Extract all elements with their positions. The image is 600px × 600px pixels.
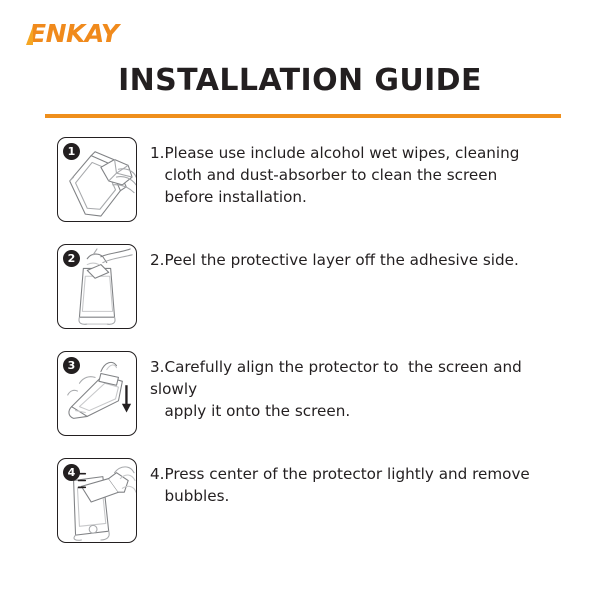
installation-guide-page: ENKAY INSTALLATION GUIDE 1 xyxy=(0,0,600,600)
step-2-illustration: 2 xyxy=(57,244,137,329)
step-item-3: 3 xyxy=(0,351,600,436)
step-item-4: 4 xyxy=(0,458,600,543)
step-item-2: 2 xyxy=(0,244,600,329)
step-4-text: 4.Press center of the protector lightly … xyxy=(137,458,550,507)
step-3-text: 3.Carefully align the protector to the s… xyxy=(137,351,550,422)
enkay-logo: ENKAY xyxy=(26,21,118,46)
down-arrow-icon xyxy=(122,385,131,412)
step-item-1: 1 xyxy=(0,137,600,222)
steps-list: 1 xyxy=(0,137,600,543)
step-1-badge: 1 xyxy=(63,143,80,160)
step-3-illustration: 3 xyxy=(57,351,137,436)
logo-slash-icon xyxy=(26,26,33,45)
step-2-badge: 2 xyxy=(63,250,80,267)
step-4-badge: 4 xyxy=(63,464,80,481)
step-2-text: 2.Peel the protective layer off the adhe… xyxy=(137,244,550,271)
page-title: INSTALLATION GUIDE xyxy=(0,64,600,97)
step-4-illustration: 4 xyxy=(57,458,137,543)
step-1-illustration: 1 xyxy=(57,137,137,222)
step-3-badge: 3 xyxy=(63,357,80,374)
step-1-text: 1.Please use include alcohol wet wipes, … xyxy=(137,137,550,208)
title-divider xyxy=(45,114,561,118)
brand-name: ENKAY xyxy=(29,19,118,48)
